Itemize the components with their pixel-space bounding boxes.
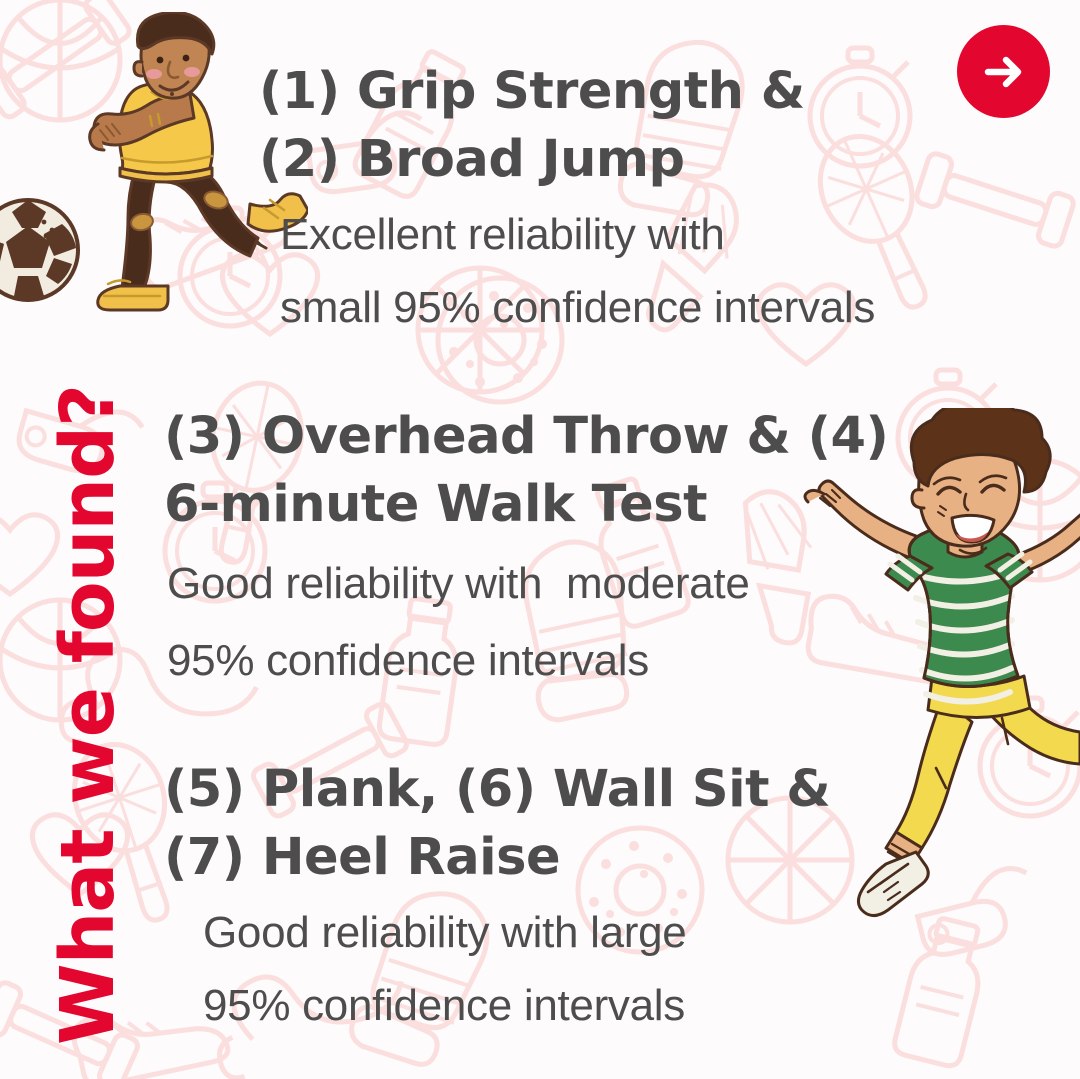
finding-3-body-line-2: 95% confidence intervals (203, 973, 830, 1038)
vertical-section-title-text: What we found? (51, 385, 125, 1045)
finding-block-3: (5) Plank, (6) Wall Sit & (7) Heel Raise… (164, 756, 830, 1038)
finding-2-heading-line-1: (3) Overhead Throw & (4) (164, 403, 888, 471)
finding-block-2: (3) Overhead Throw & (4) 6-minute Walk T… (164, 403, 888, 693)
finding-2-heading-line-2: 6-minute Walk Test (164, 471, 888, 539)
finding-1-heading-line-1: (1) Grip Strength & (259, 58, 875, 126)
arrow-right-icon (979, 47, 1029, 97)
infographic-slide: What we found? (1) Grip Strength & (2) B… (0, 0, 1080, 1079)
finding-3-heading-line-2: (7) Heel Raise (164, 824, 830, 892)
finding-2-body-line-1: Good reliability with moderate (167, 551, 888, 616)
finding-1-body-line-1: Excellent reliability with (280, 202, 875, 267)
finding-1-body-line-2: small 95% confidence intervals (280, 275, 875, 340)
finding-3-body-line-1: Good reliability with large (203, 900, 830, 965)
finding-1-heading-line-2: (2) Broad Jump (259, 126, 875, 194)
next-slide-button[interactable] (957, 25, 1050, 118)
finding-2-body-line-2: 95% confidence intervals (167, 628, 888, 693)
finding-3-heading-line-1: (5) Plank, (6) Wall Sit & (164, 756, 830, 824)
finding-block-1: (1) Grip Strength & (2) Broad Jump Excel… (259, 58, 875, 340)
vertical-section-title: What we found? (45, 345, 131, 1045)
